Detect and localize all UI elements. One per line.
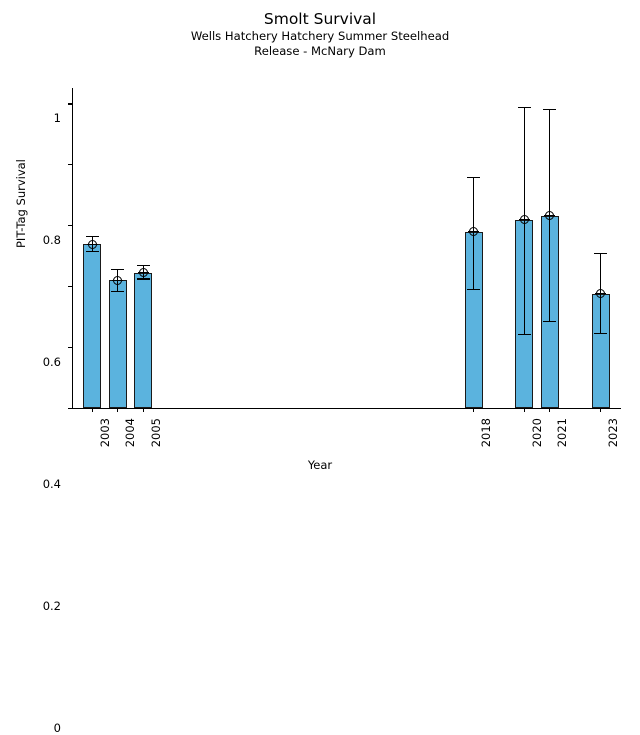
x-tick-mark [549, 408, 550, 412]
data-point-marker-2023 [595, 288, 606, 299]
error-cap-upper-2018 [467, 177, 480, 178]
bar-2004 [109, 280, 127, 408]
y-tick-mark: 0.8 [68, 164, 72, 165]
y-tick-label: 0.2 [43, 599, 61, 613]
marker-hline-icon [138, 272, 149, 273]
bar-2005 [134, 273, 152, 408]
error-cap-lower-2005 [137, 278, 150, 279]
y-tick-mark: 0.4 [68, 286, 72, 287]
error-cap-upper-2020 [518, 107, 531, 108]
chart-title: Smolt Survival [0, 10, 640, 29]
y-tick-mark: 0 [68, 408, 72, 409]
x-tick-mark [524, 408, 525, 412]
marker-hline-icon [112, 280, 123, 281]
y-tick-label: 1 [54, 111, 61, 125]
data-point-marker-2004 [112, 275, 123, 286]
error-cap-lower-2018 [467, 289, 480, 290]
y-tick-mark: 0.6 [68, 225, 72, 226]
error-cap-upper-2023 [594, 253, 607, 254]
data-point-marker-2021 [544, 210, 555, 221]
x-tick-mark [473, 408, 474, 412]
x-tick-mark [600, 408, 601, 412]
marker-hline-icon [468, 231, 479, 232]
y-tick-label: 0.4 [43, 477, 61, 491]
x-tick-label: 2023 [606, 418, 620, 447]
chart-subtitle-line-2: Release - McNary Dam [0, 44, 640, 59]
y-tick-label: 0.8 [43, 233, 61, 247]
data-point-marker-2003 [87, 239, 98, 250]
error-cap-upper-2004 [111, 269, 124, 270]
y-axis-label: PIT-Tag Survival [14, 159, 28, 248]
error-cap-lower-2021 [543, 321, 556, 322]
chart-subtitle-line-1: Wells Hatchery Hatchery Summer Steelhead [0, 29, 640, 44]
x-tick-mark [117, 408, 118, 412]
marker-hline-icon [87, 244, 98, 245]
error-cap-lower-2004 [111, 291, 124, 292]
y-axis-line [72, 88, 73, 408]
bar-2003 [83, 244, 101, 408]
error-cap-lower-2003 [86, 251, 99, 252]
y-tick-mark: 0.2 [68, 347, 72, 348]
y-tick-label: 0.6 [43, 355, 61, 369]
x-tick-label: 2005 [149, 418, 163, 447]
marker-hline-icon [595, 293, 606, 294]
error-cap-lower-2023 [594, 333, 607, 334]
y-tick-mark: 1 [68, 103, 72, 104]
x-tick-label: 2020 [530, 418, 544, 447]
plot-area: 00.20.40.60.81 2003200420052018202020212… [72, 88, 621, 408]
x-tick-mark [92, 408, 93, 412]
error-cap-upper-2005 [137, 265, 150, 266]
chart-title-block: Smolt Survival Wells Hatchery Hatchery S… [0, 10, 640, 59]
x-tick-label: 2004 [123, 418, 137, 447]
error-cap-lower-2020 [518, 334, 531, 335]
x-axis-line [72, 408, 621, 409]
chart-figure: Smolt Survival Wells Hatchery Hatchery S… [0, 0, 640, 480]
x-tick-label: 2003 [98, 418, 112, 447]
x-tick-mark [143, 408, 144, 412]
data-point-marker-2018 [468, 226, 479, 237]
error-cap-upper-2003 [86, 236, 99, 237]
marker-hline-icon [544, 215, 555, 216]
y-tick-label: 0 [54, 721, 61, 735]
marker-hline-icon [519, 219, 530, 220]
x-tick-label: 2018 [479, 418, 493, 447]
x-axis-label: Year [0, 458, 640, 472]
x-tick-label: 2021 [555, 418, 569, 447]
data-point-marker-2020 [519, 214, 530, 225]
error-cap-upper-2021 [543, 109, 556, 110]
data-point-marker-2005 [138, 267, 149, 278]
